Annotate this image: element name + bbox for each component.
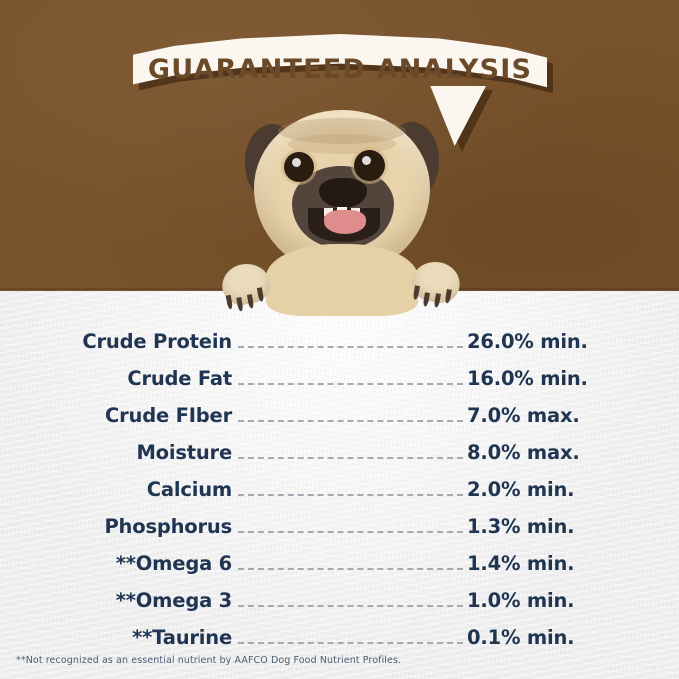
nutrient-label: Crude FIber (0, 404, 232, 427)
dog-claw (413, 285, 420, 300)
dog-eye-right (354, 150, 385, 181)
nutrient-value: 0.1% min. (467, 626, 574, 649)
nutrient-value: 1.3% min. (467, 515, 574, 538)
nutrition-row: Moisture8.0% max. (0, 441, 679, 478)
dog-claw (247, 294, 254, 309)
nutrient-label: Crude Fat (0, 367, 232, 390)
leader-dots (238, 345, 463, 348)
leader-dots (238, 456, 463, 459)
guaranteed-analysis-panel: GUARANTEED ANALYSIS (0, 0, 679, 679)
nutrient-value: 16.0% min. (467, 367, 588, 390)
nutrition-table: Crude Protein26.0% min.Crude Fat16.0% mi… (0, 330, 679, 663)
dog-eye-glint-left (292, 158, 301, 167)
nutrient-label: Phosphorus (0, 515, 232, 538)
leader-dots (238, 419, 463, 422)
dog-eye-glint-right (362, 156, 371, 165)
nutrition-row: Crude Fat16.0% min. (0, 367, 679, 404)
nutrient-value: 7.0% max. (467, 404, 580, 427)
nutrient-label: **Omega 3 (0, 589, 232, 612)
nutrient-value: 1.0% min. (467, 589, 574, 612)
nutrient-label: Calcium (0, 478, 232, 501)
dog-claw (423, 292, 430, 307)
nutrient-value: 8.0% max. (467, 441, 580, 464)
nutrient-label: **Omega 6 (0, 552, 232, 575)
leader-dots (238, 604, 463, 607)
nutrient-value: 2.0% min. (467, 478, 574, 501)
dog-chest (266, 244, 418, 316)
leader-dots (238, 493, 463, 496)
nutrition-row: Crude Protein26.0% min. (0, 330, 679, 367)
nutrient-label: Moisture (0, 441, 232, 464)
footnote-text: **Not recognized as an essential nutrien… (16, 655, 401, 666)
nutrition-row: Crude FIber7.0% max. (0, 404, 679, 441)
leader-dots (238, 567, 463, 570)
leader-dots (238, 530, 463, 533)
nutrition-row: **Omega 31.0% min. (0, 589, 679, 626)
dog-claw (257, 287, 264, 302)
nutrient-value: 1.4% min. (467, 552, 574, 575)
dog-forehead-fold-2 (288, 134, 396, 154)
banner-title: GUARANTEED ANALYSIS (133, 30, 547, 108)
nutrient-value: 26.0% min. (467, 330, 588, 353)
leader-dots (238, 382, 463, 385)
nutrient-label: Crude Protein (0, 330, 232, 353)
pug-dog-image (236, 104, 448, 309)
leader-dots (238, 641, 463, 644)
dog-claw (434, 293, 441, 308)
nutrition-row: **Omega 61.4% min. (0, 552, 679, 589)
nutrition-row: Phosphorus1.3% min. (0, 515, 679, 552)
nutrition-row: Calcium2.0% min. (0, 478, 679, 515)
dog-tongue (324, 210, 366, 234)
nutrient-label: **Taurine (0, 626, 232, 649)
dog-eye-left (284, 152, 314, 182)
